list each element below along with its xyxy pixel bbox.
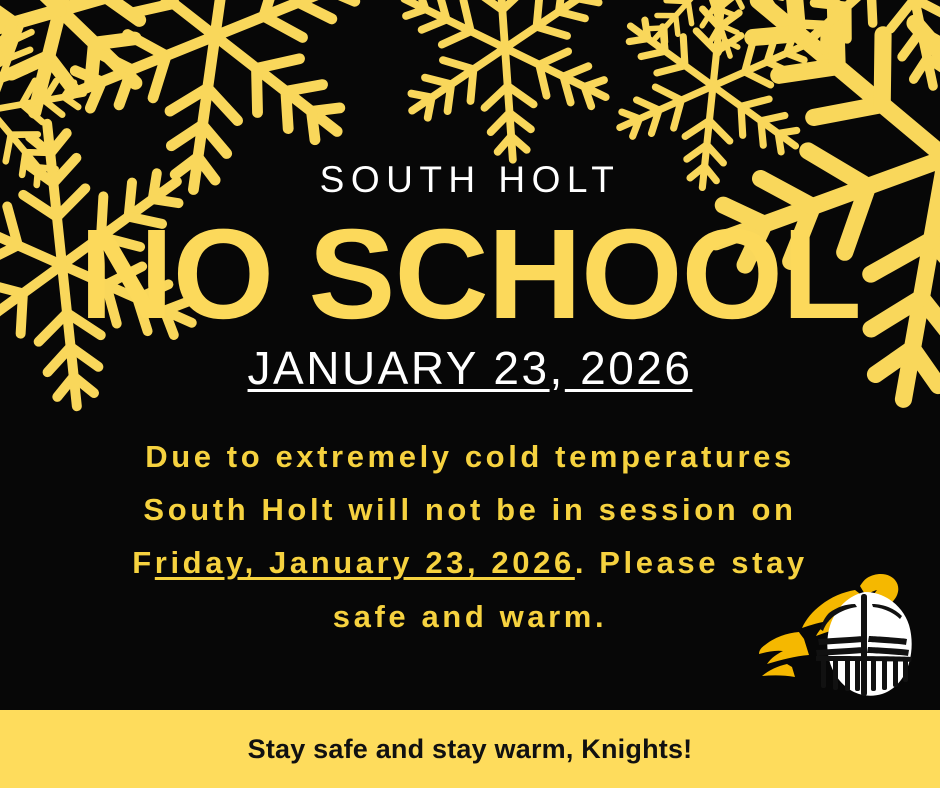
- closure-date-month-day: JANUARY 23: [248, 342, 550, 394]
- closure-date: JANUARY 23, 2026: [248, 343, 693, 394]
- body-line-2: South Holt will not be in session on: [143, 492, 796, 527]
- body-line-1: Due to extremely cold temperatures: [145, 439, 795, 474]
- knights-mascot-logo: [759, 570, 934, 700]
- body-line-3-date: riday, January 23, 2026: [155, 545, 575, 580]
- banner-message: Stay safe and stay warm, Knights!: [248, 734, 693, 765]
- closure-date-comma: ,: [550, 342, 565, 394]
- body-line-3-lead: F: [132, 545, 155, 580]
- no-school-announcement-poster: SOUTH HOLT NO SCHOOL JANUARY 23, 2026 Du…: [0, 0, 940, 788]
- closure-date-year: 2026: [565, 342, 693, 394]
- body-line-4: safe and warm.: [333, 599, 607, 634]
- page-title-no-school: NO SCHOOL: [79, 208, 860, 341]
- school-name-eyebrow: SOUTH HOLT: [320, 161, 621, 198]
- bottom-banner: Stay safe and stay warm, Knights!: [0, 710, 940, 788]
